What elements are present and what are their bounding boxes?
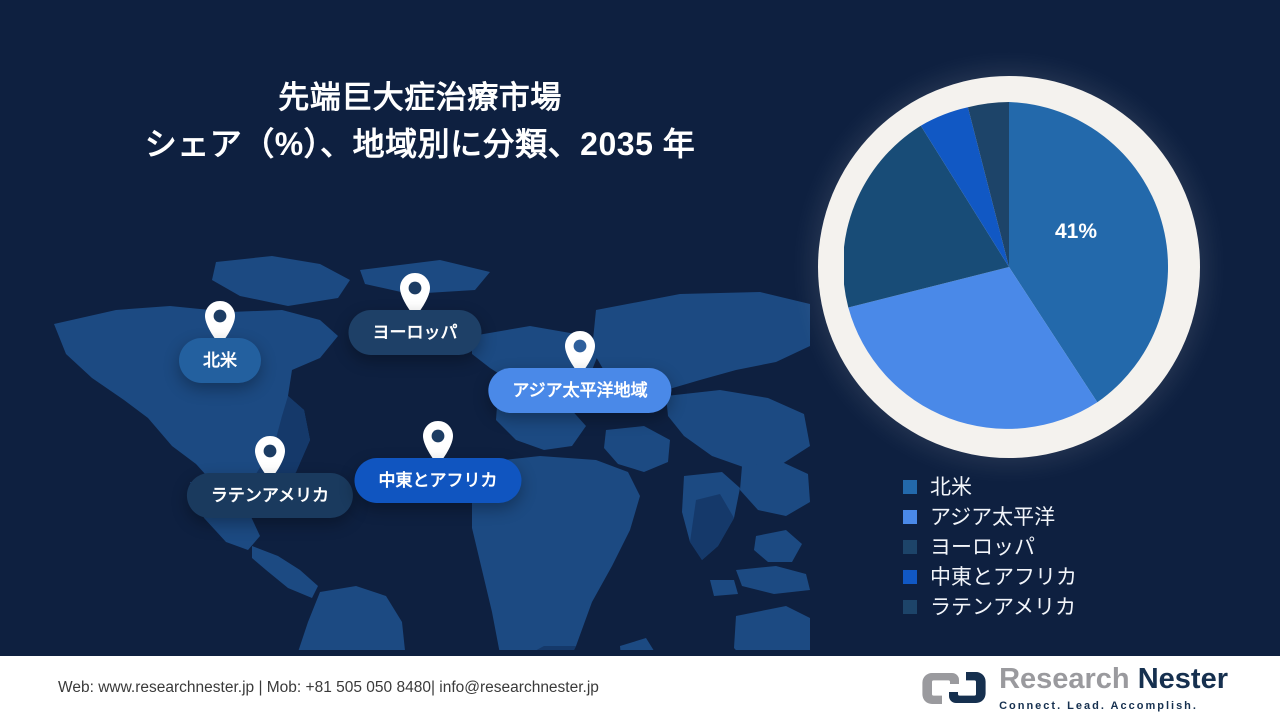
brand-logo-text: Research Nester Connect. Lead. Accomplis… bbox=[999, 665, 1228, 712]
legend-item-asia-pacific[interactable]: アジア太平洋 bbox=[903, 502, 1233, 532]
pie-data-label-north-america: 41% bbox=[1055, 220, 1097, 244]
legend-label: ラテンアメリカ bbox=[930, 597, 1076, 618]
page-title-line-2: シェア（%）、地域別に分類、2035 年 bbox=[40, 121, 800, 167]
map-label-latin-america[interactable]: ラテンアメリカ bbox=[187, 473, 353, 518]
brand-name: Research Nester bbox=[999, 665, 1228, 694]
legend-item-north-america[interactable]: 北米 bbox=[903, 472, 1233, 502]
page-title-line-1: 先端巨大症治療市場 bbox=[40, 76, 800, 121]
legend-item-latin-america[interactable]: ラテンアメリカ bbox=[903, 592, 1233, 622]
legend-swatch-icon bbox=[903, 600, 917, 614]
chain-link-logo-icon bbox=[921, 667, 987, 709]
chart-legend: 北米 アジア太平洋 ヨーロッパ 中東とアフリカ ラテンアメリカ bbox=[903, 472, 1233, 622]
brand-logo[interactable]: Research Nester Connect. Lead. Accomplis… bbox=[921, 665, 1228, 712]
legend-label: 中東とアフリカ bbox=[930, 567, 1077, 588]
world-map: 北米 ヨーロッパ アジア太平洋地域 ラテンアメリカ 中東とアフリカ bbox=[20, 250, 810, 650]
pie-chart: 41% bbox=[818, 76, 1200, 458]
map-label-middle-east-africa[interactable]: 中東とアフリカ bbox=[355, 458, 522, 503]
legend-label: 北米 bbox=[930, 477, 972, 498]
legend-item-europe[interactable]: ヨーロッパ bbox=[903, 532, 1233, 562]
brand-word-nester: Nester bbox=[1138, 663, 1228, 695]
legend-label: ヨーロッパ bbox=[930, 537, 1035, 558]
footer-bar: Web: www.researchnester.jp | Mob: +81 50… bbox=[0, 656, 1280, 720]
legend-swatch-icon bbox=[903, 510, 917, 524]
legend-swatch-icon bbox=[903, 570, 917, 584]
map-label-asia-pacific[interactable]: アジア太平洋地域 bbox=[488, 368, 671, 413]
map-label-europe[interactable]: ヨーロッパ bbox=[349, 310, 482, 355]
map-label-north-america[interactable]: 北米 bbox=[179, 338, 261, 383]
pie-slices bbox=[844, 102, 1174, 432]
brand-tagline: Connect. Lead. Accomplish. bbox=[999, 700, 1228, 712]
legend-swatch-icon bbox=[903, 540, 917, 554]
page-title: 先端巨大症治療市場 シェア（%）、地域別に分類、2035 年 bbox=[40, 76, 800, 167]
legend-swatch-icon bbox=[903, 480, 917, 494]
legend-label: アジア太平洋 bbox=[930, 507, 1055, 528]
legend-item-middle-east-africa[interactable]: 中東とアフリカ bbox=[903, 562, 1233, 592]
footer-contact-text: Web: www.researchnester.jp | Mob: +81 50… bbox=[58, 679, 599, 697]
brand-word-research: Research bbox=[999, 663, 1138, 695]
